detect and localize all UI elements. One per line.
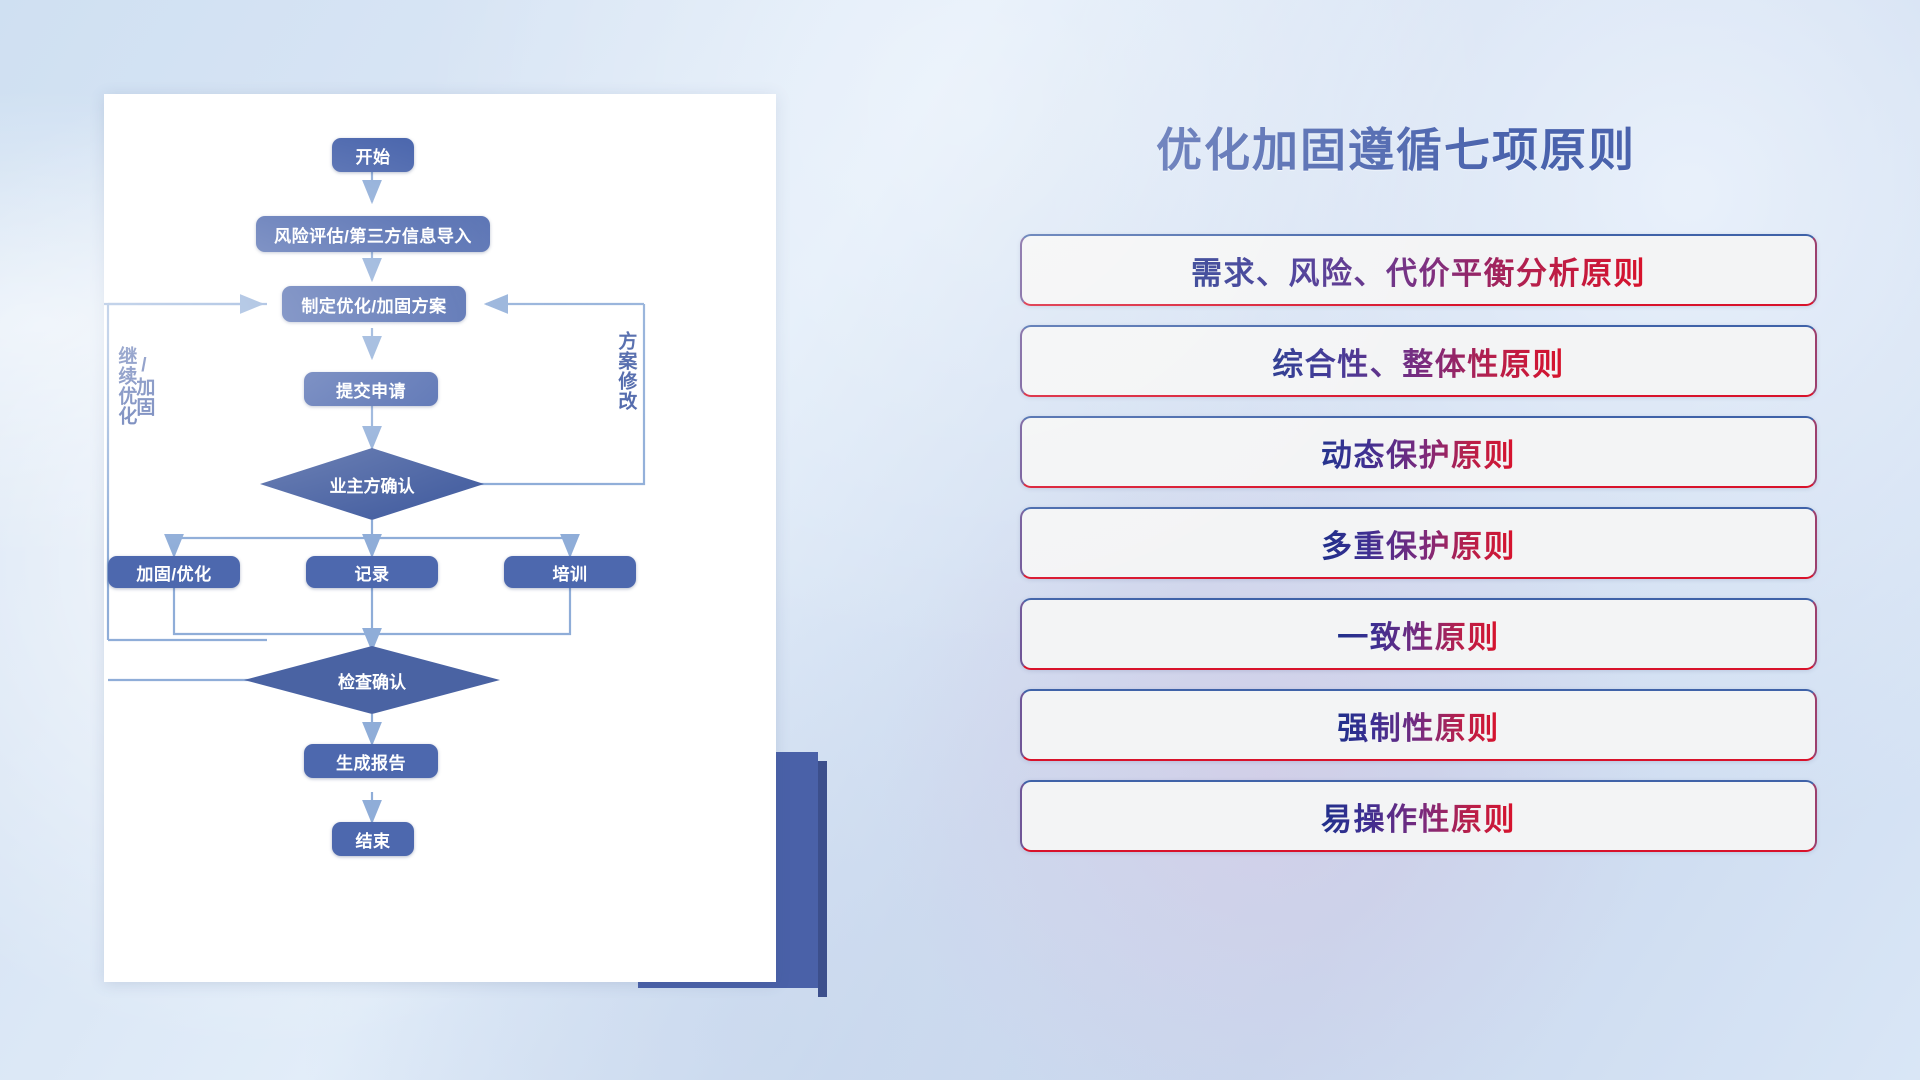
- decision-owner-confirm: [260, 448, 484, 520]
- principle-item-5-label: 一致性原则: [1337, 612, 1500, 657]
- flow-node-end-label: 结束: [356, 827, 391, 852]
- principle-item-1-label: 需求、风险、代价平衡分析原则: [1191, 248, 1646, 293]
- flow-node-reinforce[interactable]: 加固/优化: [108, 556, 240, 588]
- flow-node-plan-label: 制定优化/加固方案: [301, 292, 446, 317]
- flow-node-reinforce-label: 加固/优化: [136, 560, 211, 585]
- flow-node-risk-assessment-label: 风险评估/第三方信息导入: [274, 222, 472, 247]
- flow-node-risk-assessment[interactable]: 风险评估/第三方信息导入: [256, 216, 490, 252]
- principle-item-4[interactable]: 多重保护原则: [1020, 507, 1817, 579]
- principle-item-7[interactable]: 易操作性原则: [1020, 780, 1817, 852]
- flow-edge-label-plan-revision-text: 方案修改: [615, 331, 636, 411]
- principle-item-3-label: 动态保护原则: [1321, 430, 1516, 475]
- panel-title: 优化加固遵循七项原则: [1156, 114, 1636, 180]
- flow-node-submit-label: 提交申请: [336, 377, 406, 402]
- flow-node-submit[interactable]: 提交申请: [304, 372, 438, 406]
- flow-node-report[interactable]: 生成报告: [304, 744, 438, 778]
- flow-edge-label-plan-revision: 方案修改: [616, 316, 635, 426]
- principle-item-2-label: 综合性、整体性原则: [1272, 339, 1565, 384]
- principle-item-7-label: 易操作性原则: [1321, 794, 1516, 839]
- principles-panel: 优化加固遵循七项原则 需求、风险、代价平衡分析原则 综合性、整体性原则 动态保护…: [1020, 100, 1840, 1000]
- flow-node-report-label: 生成报告: [336, 749, 406, 774]
- principle-item-1[interactable]: 需求、风险、代价平衡分析原则: [1020, 234, 1817, 306]
- principle-item-3[interactable]: 动态保护原则: [1020, 416, 1817, 488]
- principle-item-5[interactable]: 一致性原则: [1020, 598, 1817, 670]
- flow-node-record[interactable]: 记录: [306, 556, 438, 588]
- flow-node-plan[interactable]: 制定优化/加固方案: [282, 286, 466, 322]
- decision-check-confirm: [244, 646, 500, 714]
- flow-node-training[interactable]: 培训: [504, 556, 636, 588]
- principle-item-2[interactable]: 综合性、整体性原则: [1020, 325, 1817, 397]
- slide-canvas: 开始 风险评估/第三方信息导入 制定优化/加固方案 提交申请 业主方确认 加固/…: [0, 0, 1920, 1080]
- flow-node-record-label: 记录: [355, 560, 390, 585]
- flow-edge-label-continue-left-2: /加固: [134, 316, 153, 456]
- flow-node-training-label: 培训: [553, 560, 588, 585]
- flow-node-start-label: 开始: [356, 143, 391, 168]
- principle-item-6-label: 强制性原则: [1337, 703, 1500, 748]
- principle-item-4-label: 多重保护原则: [1321, 521, 1516, 566]
- flowchart-card: 开始 风险评估/第三方信息导入 制定优化/加固方案 提交申请 业主方确认 加固/…: [104, 94, 776, 982]
- flow-node-end[interactable]: 结束: [332, 822, 414, 856]
- principle-item-6[interactable]: 强制性原则: [1020, 689, 1817, 761]
- flow-node-start[interactable]: 开始: [332, 138, 414, 172]
- flow-edge-label-continue-col2: /加固: [133, 355, 154, 417]
